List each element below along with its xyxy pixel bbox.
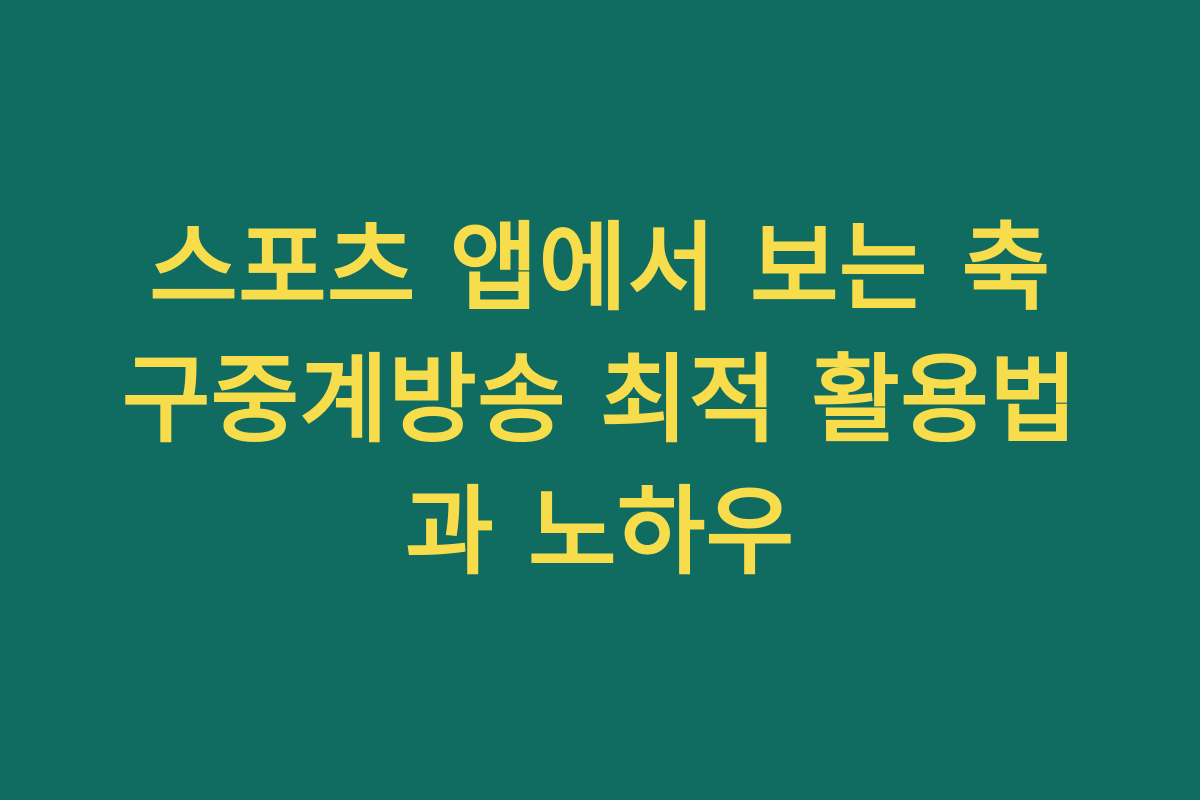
- page-title: 스포츠 앱에서 보는 축구중계방송 최적 활용법과 노하우: [95, 202, 1105, 598]
- headline-block: 스포츠 앱에서 보는 축구중계방송 최적 활용법과 노하우: [95, 202, 1105, 598]
- title-card-banner: 스포츠 앱에서 보는 축구중계방송 최적 활용법과 노하우: [0, 0, 1200, 800]
- headline-line-3: 과 노하우: [95, 466, 1105, 598]
- headline-line-2: 구중계방송 최적 활용법: [95, 334, 1105, 466]
- headline-line-1: 스포츠 앱에서 보는 축: [95, 202, 1105, 334]
